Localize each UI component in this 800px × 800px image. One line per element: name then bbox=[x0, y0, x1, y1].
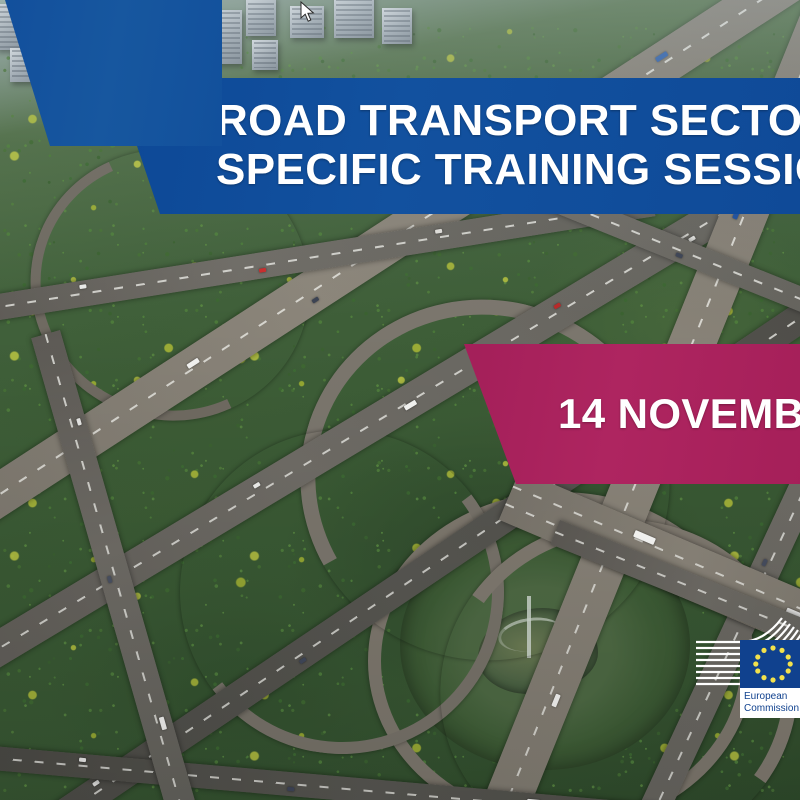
logo-org-line-1: European bbox=[744, 691, 787, 702]
date-banner: 14 NOVEMBER bbox=[458, 344, 800, 484]
title-line-2: SPECIFIC TRAINING SESSION bbox=[216, 147, 800, 194]
title-line-1: ROAD TRANSPORT SECTOR bbox=[216, 98, 800, 145]
logo-org-line-2: Commission bbox=[744, 703, 799, 714]
slide-canvas: ROAD TRANSPORT SECTOR SPECIFIC TRAINING … bbox=[0, 0, 800, 800]
european-commission-logo: European Commission bbox=[694, 614, 800, 722]
mouse-pointer-icon bbox=[300, 1, 316, 23]
date-text: 14 NOVEMBER bbox=[558, 392, 800, 437]
